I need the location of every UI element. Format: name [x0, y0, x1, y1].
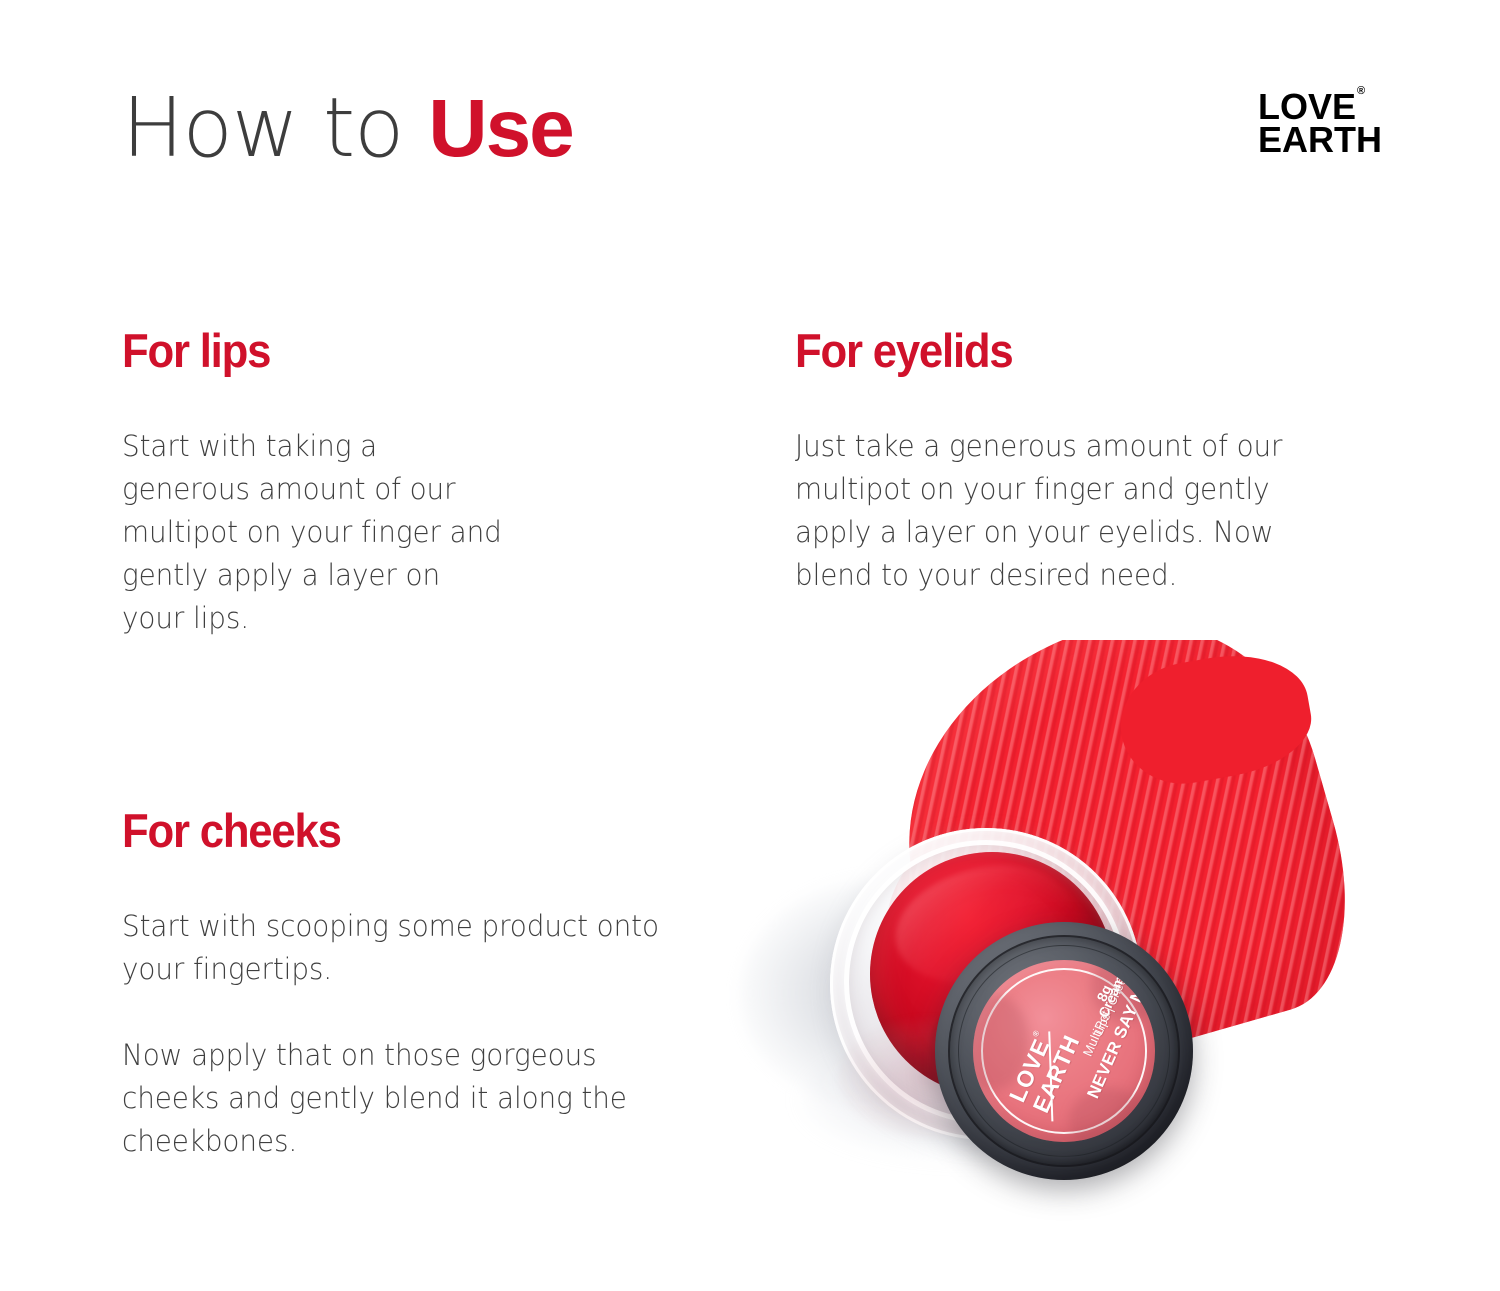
section-heading-cheeks: For cheeks — [122, 806, 643, 855]
page-title-light: How to — [122, 81, 428, 176]
product-photo: LOVE® EARTH NEVER SAY NEVER MultiPot Lip… — [720, 640, 1420, 1220]
section-heading-lips: For lips — [122, 326, 494, 375]
section-paragraph: Start with scooping some product onto yo… — [122, 905, 669, 991]
brand-logo-line2: EARTH — [1258, 123, 1382, 156]
section-for-eyelids: For eyelids Just take a generous amount … — [795, 326, 1355, 597]
brand-logo: LOVE® EARTH — [1258, 90, 1382, 156]
page-title-accent: Use — [428, 83, 572, 174]
section-body-cheeks: Start with scooping some product onto yo… — [122, 905, 669, 1163]
section-for-cheeks: For cheeks Start with scooping some prod… — [122, 806, 682, 1163]
brand-logo-love-text: LOVE — [1258, 86, 1356, 127]
section-heading-eyelids: For eyelids — [795, 326, 1316, 375]
section-paragraph: Now apply that on those gorgeous cheeks … — [122, 1034, 669, 1163]
section-paragraph: Start with taking a generous amount of o… — [122, 425, 506, 640]
page-title: How to Use — [122, 88, 573, 170]
section-for-lips: For lips Start with taking a generous am… — [122, 326, 522, 640]
jar-lid-label: LOVE® EARTH NEVER SAY NEVER MultiPot Lip… — [973, 960, 1155, 1142]
brand-logo-line1: LOVE® — [1258, 90, 1364, 123]
section-body-eyelids: Just take a generous amount of our multi… — [795, 425, 1352, 597]
section-body-lips: Start with taking a generous amount of o… — [122, 425, 506, 640]
jar-label-text-group: LOVE® EARTH NEVER SAY NEVER MultiPot Lip… — [973, 960, 1155, 1142]
registered-icon: ® — [1357, 85, 1365, 97]
section-paragraph: Just take a generous amount of our multi… — [795, 425, 1352, 597]
